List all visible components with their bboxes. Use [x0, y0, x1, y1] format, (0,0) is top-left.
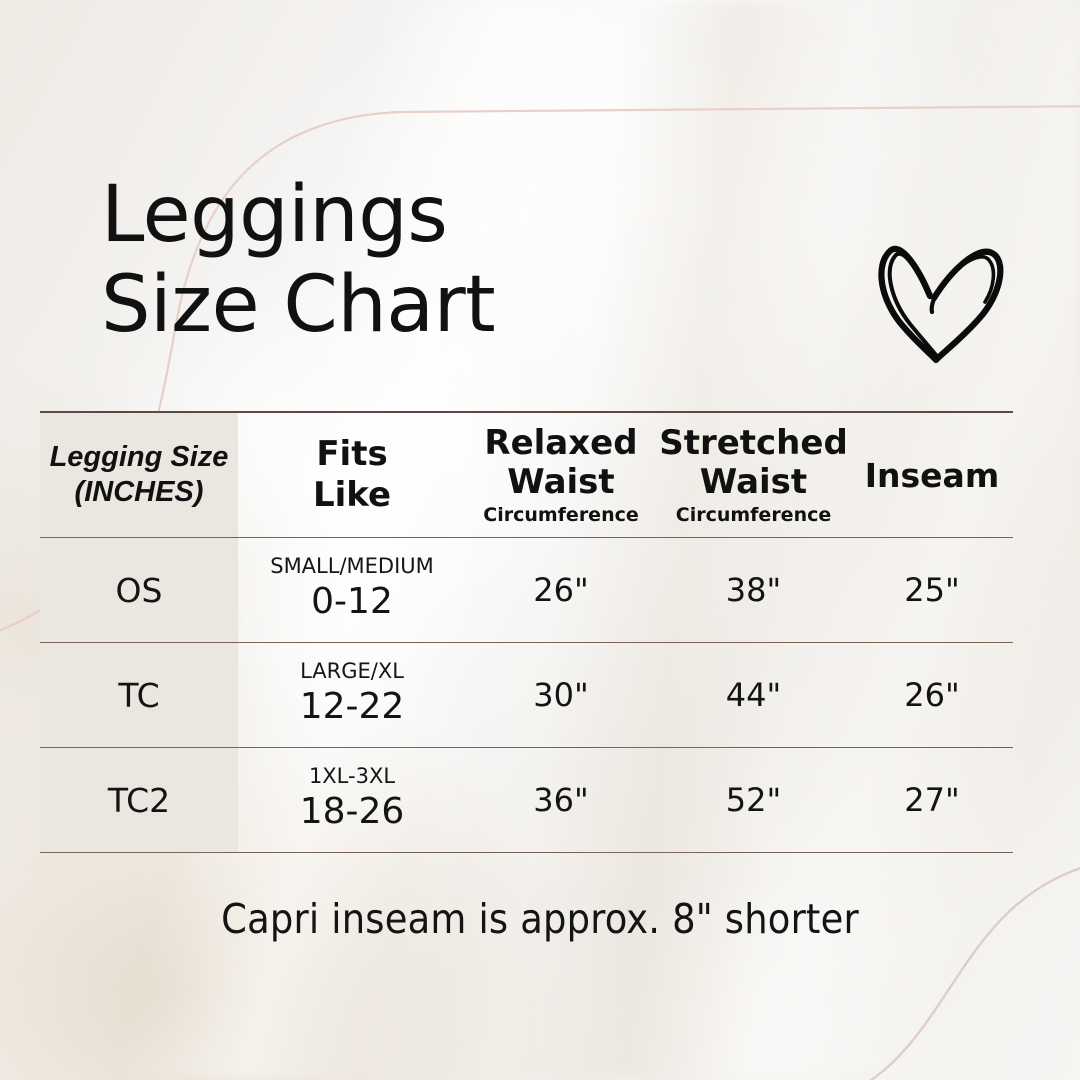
cell-relaxed-waist: 36": [466, 748, 656, 853]
header-stretched-waist-sub: Circumference: [656, 504, 851, 527]
cell-relaxed-waist-value: 36": [533, 781, 588, 819]
cell-size-value: TC2: [108, 781, 170, 820]
size-chart-table: Legging Size (INCHES) Fits Like Relaxed …: [40, 411, 1013, 853]
cell-stretched-waist: 44": [656, 643, 851, 748]
cell-inseam-value: 26": [904, 676, 959, 714]
cell-relaxed-waist-value: 30": [533, 676, 588, 714]
cell-stretched-waist: 52": [656, 748, 851, 853]
cell-inseam: 27": [851, 748, 1013, 853]
footer-note: Capri inseam is approx. 8" shorter: [0, 895, 1080, 943]
header-fits-like: Fits Like: [238, 412, 466, 538]
title-line-2: Size Chart: [101, 260, 801, 350]
cell-fits-range: 18-26: [238, 790, 466, 834]
header-relaxed-waist-line1: Relaxed: [466, 424, 656, 463]
cell-fits-label: 1XL-3XL: [238, 766, 466, 787]
header-fits-like-line2: Like: [238, 475, 466, 516]
size-chart-canvas: Leggings Size Chart Legging Size (INCHES…: [0, 0, 1080, 1080]
cell-size: TC2: [40, 748, 238, 853]
cell-stretched-waist-value: 52": [726, 781, 781, 819]
header-relaxed-waist-line2: Waist: [466, 463, 656, 502]
cell-inseam-value: 27": [904, 781, 959, 819]
header-relaxed-waist: Relaxed Waist Circumference: [466, 412, 656, 538]
heart-doodle-icon: [866, 226, 1026, 371]
cell-fits-label: LARGE/XL: [238, 661, 466, 682]
cell-fits-range: 0-12: [238, 580, 466, 624]
cell-size: TC: [40, 643, 238, 748]
header-inseam: Inseam: [851, 412, 1013, 538]
header-legging-size: Legging Size (INCHES): [40, 412, 238, 538]
cell-inseam: 25": [851, 538, 1013, 643]
table-header-row: Legging Size (INCHES) Fits Like Relaxed …: [40, 412, 1013, 538]
title-line-1: Leggings: [101, 170, 801, 260]
header-inseam-label: Inseam: [851, 456, 1013, 495]
table-row: TC LARGE/XL 12-22 30" 44" 26": [40, 643, 1013, 748]
table-row: TC2 1XL-3XL 18-26 36" 52" 27": [40, 748, 1013, 853]
header-stretched-waist-line2: Waist: [656, 463, 851, 502]
page-title: Leggings Size Chart: [101, 170, 801, 351]
cell-relaxed-waist-value: 26": [533, 571, 588, 609]
cell-inseam-value: 25": [904, 571, 959, 609]
cell-inseam: 26": [851, 643, 1013, 748]
cell-fits-like: LARGE/XL 12-22: [238, 643, 466, 748]
header-stretched-waist-line1: Stretched: [656, 424, 851, 463]
header-fits-like-line1: Fits: [238, 434, 466, 475]
cell-size: OS: [40, 538, 238, 643]
cell-fits-label: SMALL/MEDIUM: [238, 556, 466, 577]
header-legging-size-line1: Legging Size: [40, 440, 238, 475]
cell-stretched-waist-value: 38": [726, 571, 781, 609]
cell-stretched-waist-value: 44": [726, 676, 781, 714]
cell-relaxed-waist: 26": [466, 538, 656, 643]
cell-size-value: TC: [118, 676, 159, 715]
header-relaxed-waist-sub: Circumference: [466, 504, 656, 527]
cell-fits-like: 1XL-3XL 18-26: [238, 748, 466, 853]
header-legging-size-line2: (INCHES): [40, 475, 238, 510]
table-row: OS SMALL/MEDIUM 0-12 26" 38" 25": [40, 538, 1013, 643]
header-stretched-waist: Stretched Waist Circumference: [656, 412, 851, 538]
cell-relaxed-waist: 30": [466, 643, 656, 748]
cell-fits-range: 12-22: [238, 685, 466, 729]
cell-stretched-waist: 38": [656, 538, 851, 643]
cell-size-value: OS: [116, 571, 163, 610]
cell-fits-like: SMALL/MEDIUM 0-12: [238, 538, 466, 643]
